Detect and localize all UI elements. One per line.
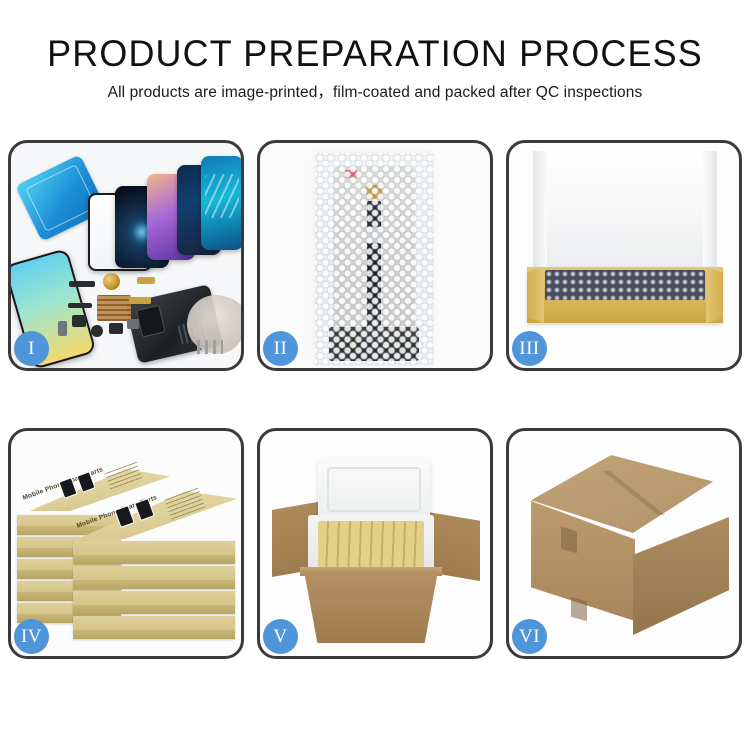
white-box-lid-icon (533, 151, 717, 276)
small-part-icon (109, 323, 123, 334)
step-badge-2: II (263, 331, 298, 366)
step-4-photo: Mobile Phone Spare Parts Mobile Phone Sp… (11, 431, 241, 656)
page-title: PRODUCT PREPARATION PROCESS (11, 34, 739, 74)
screws-icon (197, 340, 223, 354)
chip-array-icon (97, 295, 131, 321)
stacked-box (73, 566, 235, 589)
step-6-photo (509, 431, 739, 656)
step-panel-5: V (257, 428, 493, 659)
step-2-photo (260, 143, 490, 368)
small-part-icon (129, 297, 151, 304)
stacked-box (73, 541, 235, 564)
step-panel-6: VI (506, 428, 742, 659)
page-header: PRODUCT PREPARATION PROCESS All products… (0, 0, 750, 103)
step-badge-1: I (14, 331, 49, 366)
carton-right-face-icon (633, 517, 729, 635)
small-part-icon (68, 303, 92, 308)
gold-coil-part-icon (103, 273, 120, 290)
step-panel-1: I (8, 140, 244, 371)
small-part-icon (69, 281, 95, 287)
step-panel-4: Mobile Phone Spare Parts Mobile Phone Sp… (8, 428, 244, 659)
small-part-icon (137, 277, 155, 284)
process-steps-grid: I II (8, 140, 742, 659)
carton-front-icon (304, 571, 438, 643)
step-badge-6: VI (512, 619, 547, 654)
step-panel-2: II (257, 140, 493, 371)
step-1-photo (11, 143, 241, 368)
bubble-bag (315, 153, 433, 365)
small-part-icon (58, 321, 67, 336)
foam-lid-icon (318, 459, 430, 521)
stacked-box (73, 616, 235, 639)
carton-tape-icon (571, 597, 587, 622)
page-subtitle: All products are image-printed，film-coat… (0, 83, 750, 103)
step-5-photo (260, 431, 490, 656)
bubble-wrap-fill-icon (545, 270, 705, 300)
packed-boxes-icon (318, 521, 424, 567)
small-part-icon (72, 315, 86, 327)
product-preparation-page: PRODUCT PREPARATION PROCESS All products… (0, 0, 750, 750)
carton-tape-icon (561, 527, 577, 554)
step-badge-3: III (512, 331, 547, 366)
small-part-icon (91, 325, 103, 337)
small-part-icon (127, 319, 139, 329)
step-panel-3: III (506, 140, 742, 371)
phone-cyan-icon (201, 156, 241, 250)
bubble-texture-icon (315, 153, 433, 365)
step-badge-4: IV (14, 619, 49, 654)
step-badge-5: V (263, 619, 298, 654)
stacked-box (73, 591, 235, 614)
step-3-photo (509, 143, 739, 368)
box-spec-lines (164, 488, 205, 521)
